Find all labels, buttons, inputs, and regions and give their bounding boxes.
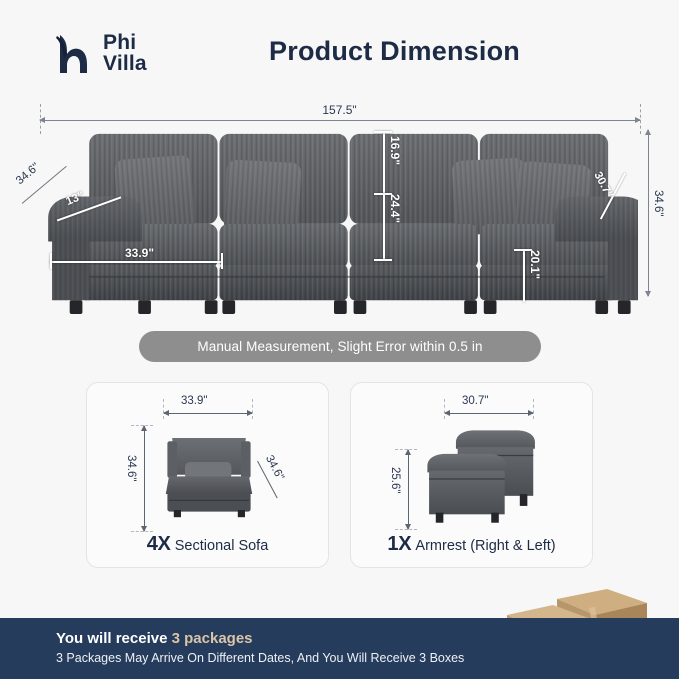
right-card-dim-width: 30.7" [462, 395, 488, 407]
page-title: Product Dimension [0, 36, 679, 67]
dim-seat-back-height: 24.4" [388, 194, 402, 223]
right-card-qty: 1X [387, 533, 411, 555]
dim-seat-height: 20.1" [528, 250, 542, 279]
measurement-notice-text: Manual Measurement, Slight Error within … [197, 339, 482, 354]
seat-back-line [383, 194, 385, 260]
main-diagram: 157.5" 34.6" [0, 98, 679, 313]
left-card-dim-width: 33.9" [181, 395, 207, 407]
overall-width-line [40, 120, 640, 121]
left-card-qty: 4X [147, 533, 171, 555]
card-sectional-sofa: 33.9" 34.6" 34.6" [86, 382, 329, 568]
back-cushion-line [383, 132, 385, 194]
dim-overall-width: 157.5" [322, 103, 356, 117]
footer-subtext: 3 Packages May Arrive On Different Dates… [56, 651, 464, 665]
sectional-sofa-illustration-icon [30, 128, 638, 314]
product-dimension-infographic: Phi Villa Product Dimension 157.5" 34.6" [0, 0, 679, 679]
module-width-tick-right [221, 253, 223, 269]
header: Phi Villa Product Dimension [0, 0, 679, 95]
sectional-sofa-module-icon [161, 415, 257, 533]
left-card-height-line [144, 426, 145, 531]
right-card-height-line [408, 450, 409, 529]
armrest-pair-icon [419, 417, 545, 531]
right-card-tick-a [444, 399, 445, 419]
right-card-width-line [445, 413, 533, 414]
footer-headline-highlight: 3 packages [172, 630, 253, 647]
right-card-dim-height: 25.6" [389, 467, 401, 493]
dim-overall-height: 34.6" [652, 190, 664, 216]
right-card-label: Armrest (Right & Left) [415, 538, 555, 554]
dim-back-cushion-height: 16.9" [388, 136, 402, 165]
left-card-caption: 4X Sectional Sofa [87, 533, 328, 556]
component-cards: 33.9" 34.6" 34.6" [0, 382, 679, 570]
left-card-dim-height: 34.6" [125, 455, 137, 481]
seat-back-tick-bottom [374, 259, 392, 261]
left-card-label: Sectional Sofa [175, 538, 269, 554]
right-card-caption: 1X Armrest (Right & Left) [351, 533, 592, 556]
left-card-width-line [164, 413, 252, 414]
card-armrest: 30.7" 25.6" [350, 382, 593, 568]
module-width-tick-left [50, 253, 52, 269]
seat-height-line [523, 250, 525, 302]
dim-module-width: 33.9" [125, 246, 154, 260]
right-card-tick-b [533, 399, 534, 419]
footer-headline-prefix: You will receive [56, 630, 167, 647]
footer-headline: You will receive 3 packages [56, 630, 253, 647]
module-width-line [50, 261, 222, 263]
footer-band: You will receive 3 packages 3 Packages M… [0, 618, 679, 679]
overall-height-line [648, 130, 649, 296]
back-cushion-tick-top [374, 131, 392, 133]
measurement-notice: Manual Measurement, Slight Error within … [139, 331, 541, 362]
